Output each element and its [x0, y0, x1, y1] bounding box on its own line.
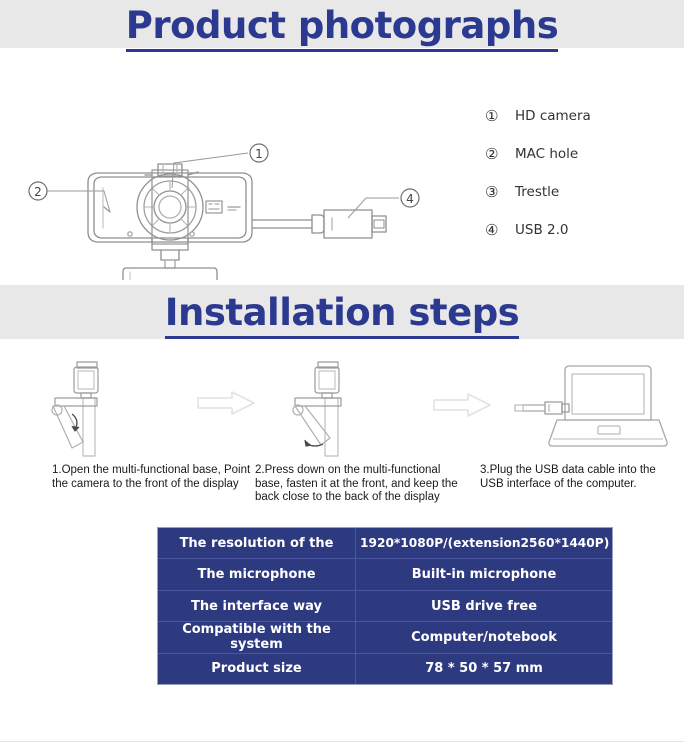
spec-value: USB drive free	[356, 591, 612, 621]
legend-item-label: USB 2.0	[515, 222, 568, 238]
photographs-section-title: Product photographs	[0, 4, 684, 52]
step-3-illustration	[505, 358, 680, 463]
table-row: The interface way USB drive free	[158, 591, 612, 622]
spec-value: Computer/notebook	[356, 622, 612, 652]
legend-item-label: HD camera	[515, 108, 591, 124]
step-2-caption: 2.Press down on the multi-functional bas…	[255, 464, 470, 505]
spec-value: 1920*1080P/(extension2560*1440P)	[356, 528, 613, 558]
table-row: The resolution of the 1920*1080P/(extens…	[158, 528, 612, 559]
legend-marker-icon: ①	[485, 107, 515, 125]
table-row: The microphone Built-in microphone	[158, 559, 612, 590]
bottom-divider	[0, 741, 684, 742]
installation-section-title: Installation steps	[0, 291, 684, 339]
step-1-caption: 1.Open the multi-functional base, Point …	[52, 464, 257, 491]
legend-item: ② MAC hole	[485, 138, 680, 170]
specification-table: The resolution of the 1920*1080P/(extens…	[157, 527, 613, 685]
spec-key: Product size	[158, 654, 356, 684]
legend-marker-icon: ④	[485, 221, 515, 239]
legend-list: ① HD camera ② MAC hole ③ Trestle ④ USB 2…	[485, 100, 680, 252]
table-row: Product size 78 * 50 * 57 mm	[158, 654, 612, 684]
photographs-section-title-text: Product photographs	[126, 4, 559, 52]
svg-text:1: 1	[255, 147, 263, 161]
spec-key: The interface way	[158, 591, 356, 621]
step-2-illustration	[285, 358, 415, 463]
step-1-illustration	[50, 358, 180, 463]
callout-marker-2: 2	[29, 182, 47, 200]
legend-item: ① HD camera	[485, 100, 680, 132]
spec-value: 78 * 50 * 57 mm	[356, 654, 612, 684]
spec-key: The microphone	[158, 559, 356, 589]
step-arrow-2-icon	[432, 392, 494, 423]
legend-marker-icon: ②	[485, 145, 515, 163]
step-3-caption: 3.Plug the USB data cable into the USB i…	[480, 464, 670, 491]
legend-item: ④ USB 2.0	[485, 214, 680, 246]
legend-marker-icon: ③	[485, 183, 515, 201]
legend-item: ③ Trestle	[485, 176, 680, 208]
legend-item-label: MAC hole	[515, 146, 578, 162]
legend-item-label: Trestle	[515, 184, 559, 200]
table-row: Compatible with the system Computer/note…	[158, 622, 612, 653]
callout-marker-1: 1	[250, 144, 268, 162]
svg-text:2: 2	[34, 185, 42, 199]
spec-key: The resolution of the	[158, 528, 356, 558]
callout-marker-4: 4	[401, 189, 419, 207]
spec-key: Compatible with the system	[158, 622, 356, 652]
step-arrow-1-icon	[196, 390, 258, 421]
spec-value: Built-in microphone	[356, 559, 612, 589]
installation-section-title-text: Installation steps	[165, 291, 519, 339]
svg-text:4: 4	[406, 192, 414, 206]
